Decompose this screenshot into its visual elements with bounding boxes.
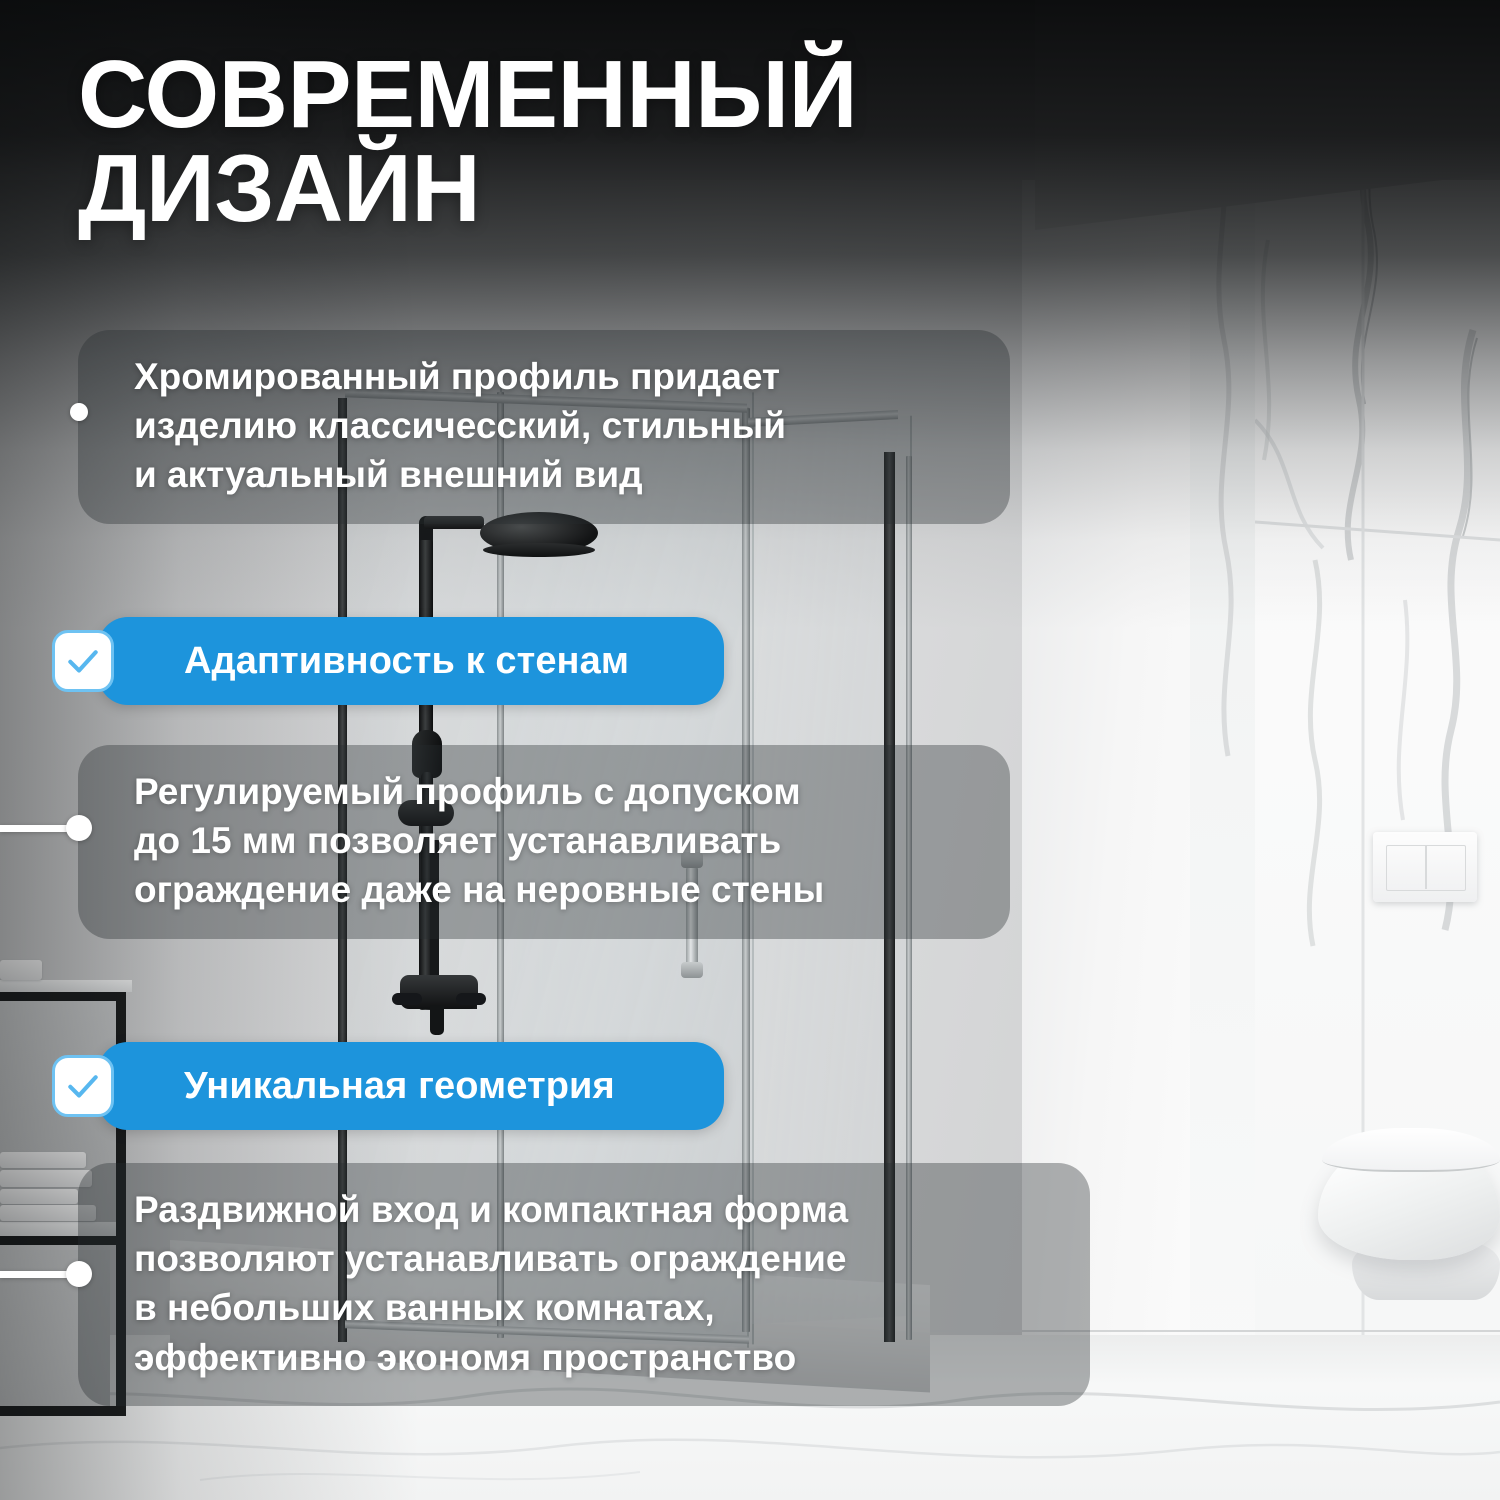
badge-wall-adaptivity[interactable]: Адаптивность к стенам <box>98 617 724 705</box>
badge-label: Адаптивность к стенам <box>184 640 629 683</box>
leader-dot-unique-geometry <box>66 1261 92 1287</box>
badge-label: Уникальная геометрия <box>184 1065 615 1108</box>
feature-text-unique-geometry: Раздвижной вход и компактная форма позво… <box>78 1163 1090 1406</box>
overlay-content: СОВРЕМЕННЫЙ ДИЗАЙН Хромированный профиль… <box>0 0 1500 1500</box>
feature-text-chrome-profile: Хромированный профиль придает изделию кл… <box>78 330 1010 524</box>
check-icon <box>52 1055 114 1117</box>
promo-banner: СОВРЕМЕННЫЙ ДИЗАЙН Хромированный профиль… <box>0 0 1500 1500</box>
page-title: СОВРЕМЕННЫЙ ДИЗАЙН <box>78 48 978 236</box>
leader-dot-wall-adaptivity <box>66 815 92 841</box>
feature-text-wall-adaptivity: Регулируемый профиль с допуском до 15 мм… <box>78 745 1010 939</box>
check-icon <box>52 630 114 692</box>
bullet-dot-icon <box>70 403 88 421</box>
badge-unique-geometry[interactable]: Уникальная геометрия <box>98 1042 724 1130</box>
